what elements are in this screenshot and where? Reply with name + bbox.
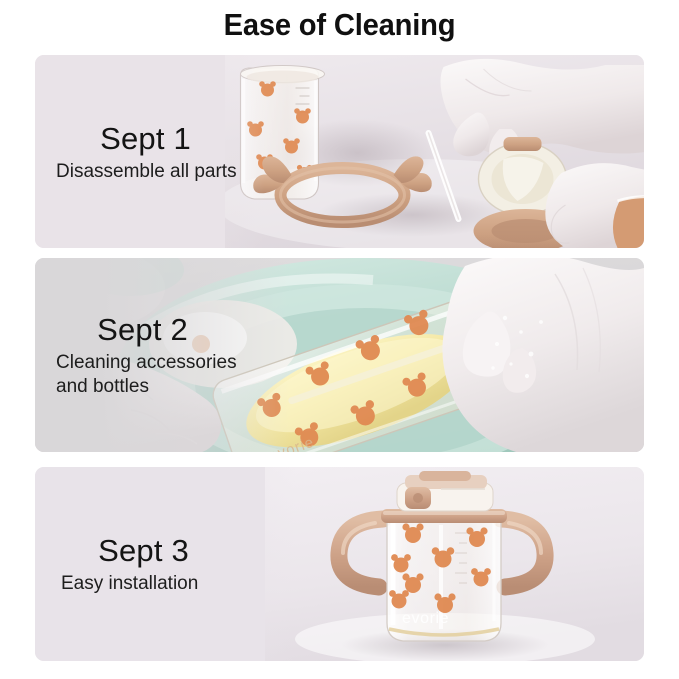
step-1-illustration: evorie <box>225 55 644 248</box>
glass-bottle-assembled: evorie <box>387 517 501 641</box>
step-3-description: Easy installation <box>55 572 270 595</box>
step-2-photo: evorie <box>35 258 644 452</box>
step-3-photo: evorie <box>265 467 644 661</box>
bottle-brand-text: evorie <box>402 610 449 627</box>
step-panel-2: evorie <box>35 258 644 452</box>
step-3-title: Sept 3 <box>55 533 270 568</box>
gloved-hand-right <box>442 258 644 452</box>
page-title: Ease of Cleaning <box>20 7 658 43</box>
panel-3-fade <box>35 467 295 661</box>
step-3-illustration: evorie <box>265 467 644 661</box>
step-2-illustration: evorie <box>35 258 644 452</box>
step-1-photo: evorie <box>225 55 644 248</box>
bottle-cap <box>397 471 493 511</box>
step-3-caption: Sept 3 Easy installation <box>55 467 270 661</box>
step-panel-3: evorie <box>35 467 644 661</box>
step-panel-1: evorie <box>35 55 644 248</box>
ease-of-cleaning-infographic: Ease of Cleaning <box>0 0 679 679</box>
